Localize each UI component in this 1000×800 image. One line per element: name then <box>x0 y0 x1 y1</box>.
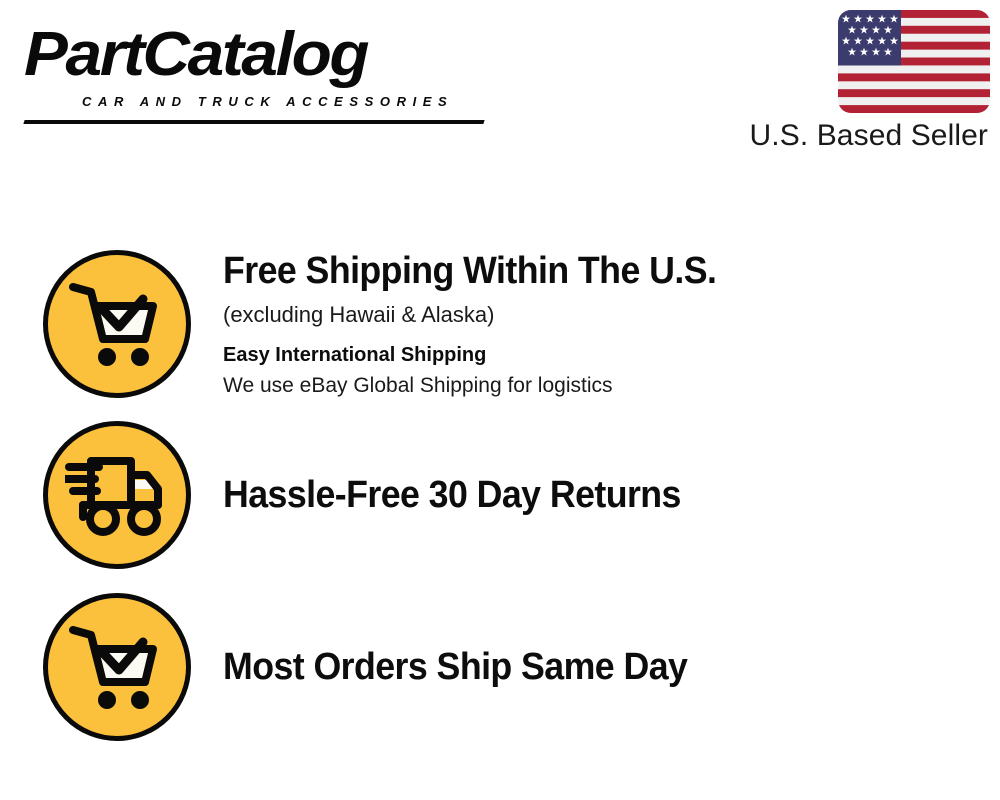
delivery-truck-icon <box>43 421 191 569</box>
feature-title: Hassle-Free 30 Day Returns <box>223 472 935 518</box>
feature-row: Free Shipping Within The U.S. (excluding… <box>0 240 1000 408</box>
brand-underline-swoosh <box>23 120 484 124</box>
us-based-seller-label: U.S. Based Seller <box>750 119 988 153</box>
feature-text-block: Most Orders Ship Same Day <box>223 644 1000 690</box>
feature-title: Most Orders Ship Same Day <box>223 644 935 690</box>
shopping-cart-check-icon <box>43 593 191 741</box>
feature-row: Most Orders Ship Same Day <box>0 584 1000 750</box>
us-flag-icon <box>838 10 990 113</box>
feature-text-block: Free Shipping Within The U.S. (excluding… <box>223 248 1000 401</box>
feature-text-block: Hassle-Free 30 Day Returns <box>223 472 1000 518</box>
feature-title: Free Shipping Within The U.S. <box>223 248 935 294</box>
brand-wordmark: PartCatalog <box>24 22 522 88</box>
brand-tagline: CAR AND TRUCK ACCESSORIES <box>82 94 453 109</box>
page-header: PartCatalog CAR AND TRUCK ACCESSORIES <box>0 0 1000 170</box>
feature-subtitle-bold: Easy International Shipping <box>223 340 980 370</box>
feature-row: Hassle-Free 30 Day Returns <box>0 412 1000 578</box>
feature-subtitle: (excluding Hawaii & Alaska) <box>223 299 980 331</box>
shopping-cart-check-icon <box>43 250 191 398</box>
feature-subtitle-detail: We use eBay Global Shipping for logistic… <box>223 371 980 401</box>
brand-logo[interactable]: PartCatalog CAR AND TRUCK ACCESSORIES <box>24 22 494 114</box>
